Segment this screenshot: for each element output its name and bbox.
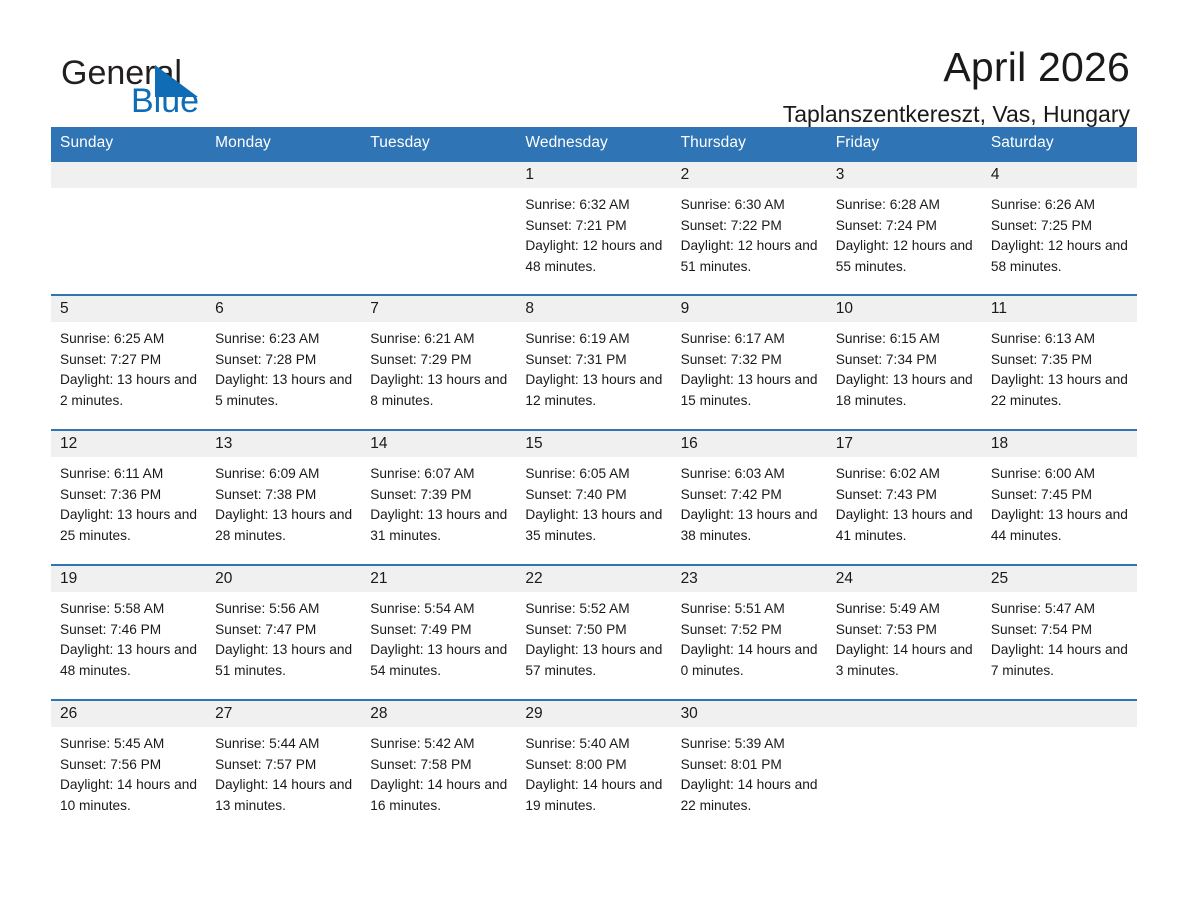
day-details: Sunrise: 5:56 AMSunset: 7:47 PMDaylight:… bbox=[206, 592, 361, 681]
daylight-text: Daylight: 13 hours and 31 minutes. bbox=[370, 505, 510, 546]
calendar-cell-empty bbox=[827, 700, 982, 835]
sunrise-text: Sunrise: 6:13 AM bbox=[991, 329, 1131, 350]
daylight-text: Daylight: 13 hours and 18 minutes. bbox=[836, 370, 976, 411]
daylight-text: Daylight: 13 hours and 48 minutes. bbox=[60, 640, 200, 681]
day-details: Sunrise: 6:13 AMSunset: 7:35 PMDaylight:… bbox=[982, 322, 1137, 411]
daylight-text: Daylight: 13 hours and 57 minutes. bbox=[525, 640, 665, 681]
day-number: 18 bbox=[982, 431, 1137, 457]
day-details: Sunrise: 6:11 AMSunset: 7:36 PMDaylight:… bbox=[51, 457, 206, 546]
day-details: Sunrise: 5:51 AMSunset: 7:52 PMDaylight:… bbox=[672, 592, 827, 681]
weekday-header-wednesday: Wednesday bbox=[516, 127, 671, 161]
day-number: 20 bbox=[206, 566, 361, 592]
page-header: General Blue April 2026 Taplanszentkeres… bbox=[0, 0, 1188, 118]
calendar-day-cell[interactable]: 16Sunrise: 6:03 AMSunset: 7:42 PMDayligh… bbox=[672, 430, 827, 565]
day-details: Sunrise: 6:28 AMSunset: 7:24 PMDaylight:… bbox=[827, 188, 982, 277]
sunset-text: Sunset: 7:45 PM bbox=[991, 485, 1131, 506]
sunrise-text: Sunrise: 5:54 AM bbox=[370, 599, 510, 620]
weekday-header-friday: Friday bbox=[827, 127, 982, 161]
day-number: 27 bbox=[206, 701, 361, 727]
daylight-text: Daylight: 13 hours and 28 minutes. bbox=[215, 505, 355, 546]
calendar-day-cell[interactable]: 23Sunrise: 5:51 AMSunset: 7:52 PMDayligh… bbox=[672, 565, 827, 700]
calendar-day-cell[interactable]: 4Sunrise: 6:26 AMSunset: 7:25 PMDaylight… bbox=[982, 161, 1137, 295]
daylight-text: Daylight: 14 hours and 0 minutes. bbox=[681, 640, 821, 681]
day-number: 28 bbox=[361, 701, 516, 727]
daylight-text: Daylight: 13 hours and 41 minutes. bbox=[836, 505, 976, 546]
day-number: 5 bbox=[51, 296, 206, 322]
day-details: Sunrise: 5:40 AMSunset: 8:00 PMDaylight:… bbox=[516, 727, 671, 816]
day-number: 15 bbox=[516, 431, 671, 457]
day-number bbox=[827, 701, 982, 727]
sunrise-text: Sunrise: 5:40 AM bbox=[525, 734, 665, 755]
calendar-day-cell[interactable]: 20Sunrise: 5:56 AMSunset: 7:47 PMDayligh… bbox=[206, 565, 361, 700]
sunrise-text: Sunrise: 6:03 AM bbox=[681, 464, 821, 485]
calendar-day-cell[interactable]: 15Sunrise: 6:05 AMSunset: 7:40 PMDayligh… bbox=[516, 430, 671, 565]
sunrise-text: Sunrise: 6:09 AM bbox=[215, 464, 355, 485]
generalblue-logo: General Blue bbox=[57, 44, 257, 116]
daylight-text: Daylight: 14 hours and 19 minutes. bbox=[525, 775, 665, 816]
day-details: Sunrise: 5:58 AMSunset: 7:46 PMDaylight:… bbox=[51, 592, 206, 681]
calendar-day-cell[interactable]: 28Sunrise: 5:42 AMSunset: 7:58 PMDayligh… bbox=[361, 700, 516, 835]
sunrise-text: Sunrise: 6:25 AM bbox=[60, 329, 200, 350]
day-details: Sunrise: 5:54 AMSunset: 7:49 PMDaylight:… bbox=[361, 592, 516, 681]
day-number: 22 bbox=[516, 566, 671, 592]
day-number: 29 bbox=[516, 701, 671, 727]
sunrise-text: Sunrise: 6:19 AM bbox=[525, 329, 665, 350]
calendar-day-cell[interactable]: 1Sunrise: 6:32 AMSunset: 7:21 PMDaylight… bbox=[516, 161, 671, 295]
sunset-text: Sunset: 7:35 PM bbox=[991, 350, 1131, 371]
day-number: 12 bbox=[51, 431, 206, 457]
sunrise-text: Sunrise: 6:21 AM bbox=[370, 329, 510, 350]
daylight-text: Daylight: 14 hours and 3 minutes. bbox=[836, 640, 976, 681]
page-subtitle: Taplanszentkereszt, Vas, Hungary bbox=[783, 102, 1130, 127]
sunrise-text: Sunrise: 6:23 AM bbox=[215, 329, 355, 350]
calendar-day-cell[interactable]: 7Sunrise: 6:21 AMSunset: 7:29 PMDaylight… bbox=[361, 295, 516, 430]
daylight-text: Daylight: 12 hours and 51 minutes. bbox=[681, 236, 821, 277]
sunset-text: Sunset: 7:57 PM bbox=[215, 755, 355, 776]
sunrise-text: Sunrise: 5:58 AM bbox=[60, 599, 200, 620]
sunrise-text: Sunrise: 6:00 AM bbox=[991, 464, 1131, 485]
daylight-text: Daylight: 13 hours and 51 minutes. bbox=[215, 640, 355, 681]
day-number: 19 bbox=[51, 566, 206, 592]
day-number: 11 bbox=[982, 296, 1137, 322]
sunrise-text: Sunrise: 5:44 AM bbox=[215, 734, 355, 755]
calendar-day-cell[interactable]: 2Sunrise: 6:30 AMSunset: 7:22 PMDaylight… bbox=[672, 161, 827, 295]
day-details: Sunrise: 6:26 AMSunset: 7:25 PMDaylight:… bbox=[982, 188, 1137, 277]
sunset-text: Sunset: 7:47 PM bbox=[215, 620, 355, 641]
day-number: 10 bbox=[827, 296, 982, 322]
sunrise-text: Sunrise: 6:26 AM bbox=[991, 195, 1131, 216]
day-details: Sunrise: 6:17 AMSunset: 7:32 PMDaylight:… bbox=[672, 322, 827, 411]
calendar-week-row: 1Sunrise: 6:32 AMSunset: 7:21 PMDaylight… bbox=[51, 161, 1137, 295]
day-number: 21 bbox=[361, 566, 516, 592]
sunrise-text: Sunrise: 5:51 AM bbox=[681, 599, 821, 620]
daylight-text: Daylight: 14 hours and 13 minutes. bbox=[215, 775, 355, 816]
sunrise-text: Sunrise: 5:56 AM bbox=[215, 599, 355, 620]
sunset-text: Sunset: 7:40 PM bbox=[525, 485, 665, 506]
sunrise-text: Sunrise: 6:30 AM bbox=[681, 195, 821, 216]
calendar-day-cell[interactable]: 24Sunrise: 5:49 AMSunset: 7:53 PMDayligh… bbox=[827, 565, 982, 700]
day-number bbox=[206, 162, 361, 188]
calendar-week-row: 19Sunrise: 5:58 AMSunset: 7:46 PMDayligh… bbox=[51, 565, 1137, 700]
daylight-text: Daylight: 13 hours and 44 minutes. bbox=[991, 505, 1131, 546]
day-number: 4 bbox=[982, 162, 1137, 188]
daylight-text: Daylight: 13 hours and 2 minutes. bbox=[60, 370, 200, 411]
day-details: Sunrise: 6:32 AMSunset: 7:21 PMDaylight:… bbox=[516, 188, 671, 277]
day-details: Sunrise: 6:09 AMSunset: 7:38 PMDaylight:… bbox=[206, 457, 361, 546]
sunset-text: Sunset: 7:52 PM bbox=[681, 620, 821, 641]
calendar-day-cell[interactable]: 14Sunrise: 6:07 AMSunset: 7:39 PMDayligh… bbox=[361, 430, 516, 565]
day-number: 7 bbox=[361, 296, 516, 322]
day-number: 25 bbox=[982, 566, 1137, 592]
day-details: Sunrise: 6:05 AMSunset: 7:40 PMDaylight:… bbox=[516, 457, 671, 546]
weekday-header-sunday: Sunday bbox=[51, 127, 206, 161]
daylight-text: Daylight: 13 hours and 15 minutes. bbox=[681, 370, 821, 411]
sunset-text: Sunset: 7:54 PM bbox=[991, 620, 1131, 641]
sunset-text: Sunset: 7:21 PM bbox=[525, 216, 665, 237]
calendar-day-cell[interactable]: 11Sunrise: 6:13 AMSunset: 7:35 PMDayligh… bbox=[982, 295, 1137, 430]
day-number: 1 bbox=[516, 162, 671, 188]
day-details: Sunrise: 5:47 AMSunset: 7:54 PMDaylight:… bbox=[982, 592, 1137, 681]
day-details: Sunrise: 6:03 AMSunset: 7:42 PMDaylight:… bbox=[672, 457, 827, 546]
sunrise-text: Sunrise: 6:17 AM bbox=[681, 329, 821, 350]
sunrise-text: Sunrise: 6:05 AM bbox=[525, 464, 665, 485]
sunset-text: Sunset: 7:46 PM bbox=[60, 620, 200, 641]
daylight-text: Daylight: 14 hours and 22 minutes. bbox=[681, 775, 821, 816]
day-number bbox=[982, 701, 1137, 727]
sunrise-text: Sunrise: 6:28 AM bbox=[836, 195, 976, 216]
daylight-text: Daylight: 13 hours and 8 minutes. bbox=[370, 370, 510, 411]
calendar-week-row: 26Sunrise: 5:45 AMSunset: 7:56 PMDayligh… bbox=[51, 700, 1137, 835]
day-details: Sunrise: 6:25 AMSunset: 7:27 PMDaylight:… bbox=[51, 322, 206, 411]
weekday-header-monday: Monday bbox=[206, 127, 361, 161]
sunset-text: Sunset: 7:34 PM bbox=[836, 350, 976, 371]
sunset-text: Sunset: 8:01 PM bbox=[681, 755, 821, 776]
sunrise-text: Sunrise: 5:49 AM bbox=[836, 599, 976, 620]
calendar-day-cell[interactable]: 18Sunrise: 6:00 AMSunset: 7:45 PMDayligh… bbox=[982, 430, 1137, 565]
daylight-text: Daylight: 13 hours and 12 minutes. bbox=[525, 370, 665, 411]
calendar-day-cell[interactable]: 25Sunrise: 5:47 AMSunset: 7:54 PMDayligh… bbox=[982, 565, 1137, 700]
sunrise-text: Sunrise: 6:15 AM bbox=[836, 329, 976, 350]
calendar-day-cell[interactable]: 9Sunrise: 6:17 AMSunset: 7:32 PMDaylight… bbox=[672, 295, 827, 430]
calendar-day-cell[interactable]: 27Sunrise: 5:44 AMSunset: 7:57 PMDayligh… bbox=[206, 700, 361, 835]
day-details: Sunrise: 6:19 AMSunset: 7:31 PMDaylight:… bbox=[516, 322, 671, 411]
sunrise-text: Sunrise: 6:11 AM bbox=[60, 464, 200, 485]
calendar-day-cell[interactable]: 3Sunrise: 6:28 AMSunset: 7:24 PMDaylight… bbox=[827, 161, 982, 295]
day-number: 6 bbox=[206, 296, 361, 322]
calendar-day-cell[interactable]: 6Sunrise: 6:23 AMSunset: 7:28 PMDaylight… bbox=[206, 295, 361, 430]
day-details: Sunrise: 5:42 AMSunset: 7:58 PMDaylight:… bbox=[361, 727, 516, 816]
calendar-cell-empty bbox=[982, 700, 1137, 835]
day-number: 14 bbox=[361, 431, 516, 457]
sunset-text: Sunset: 7:31 PM bbox=[525, 350, 665, 371]
sunset-text: Sunset: 8:00 PM bbox=[525, 755, 665, 776]
calendar-day-cell[interactable]: 10Sunrise: 6:15 AMSunset: 7:34 PMDayligh… bbox=[827, 295, 982, 430]
day-details: Sunrise: 6:00 AMSunset: 7:45 PMDaylight:… bbox=[982, 457, 1137, 546]
calendar-day-cell[interactable]: 29Sunrise: 5:40 AMSunset: 8:00 PMDayligh… bbox=[516, 700, 671, 835]
day-number: 9 bbox=[672, 296, 827, 322]
day-details: Sunrise: 5:44 AMSunset: 7:57 PMDaylight:… bbox=[206, 727, 361, 816]
day-number: 8 bbox=[516, 296, 671, 322]
sunset-text: Sunset: 7:32 PM bbox=[681, 350, 821, 371]
calendar-day-cell[interactable]: 17Sunrise: 6:02 AMSunset: 7:43 PMDayligh… bbox=[827, 430, 982, 565]
day-number: 24 bbox=[827, 566, 982, 592]
sunset-text: Sunset: 7:24 PM bbox=[836, 216, 976, 237]
day-details: Sunrise: 5:39 AMSunset: 8:01 PMDaylight:… bbox=[672, 727, 827, 816]
daylight-text: Daylight: 14 hours and 10 minutes. bbox=[60, 775, 200, 816]
page-title: April 2026 bbox=[783, 46, 1130, 89]
daylight-text: Daylight: 12 hours and 55 minutes. bbox=[836, 236, 976, 277]
day-details: Sunrise: 5:45 AMSunset: 7:56 PMDaylight:… bbox=[51, 727, 206, 816]
sunset-text: Sunset: 7:28 PM bbox=[215, 350, 355, 371]
sunset-text: Sunset: 7:39 PM bbox=[370, 485, 510, 506]
calendar-day-cell[interactable]: 30Sunrise: 5:39 AMSunset: 8:01 PMDayligh… bbox=[672, 700, 827, 835]
day-number: 13 bbox=[206, 431, 361, 457]
sunrise-text: Sunrise: 6:02 AM bbox=[836, 464, 976, 485]
day-details: Sunrise: 5:52 AMSunset: 7:50 PMDaylight:… bbox=[516, 592, 671, 681]
calendar-day-cell[interactable]: 19Sunrise: 5:58 AMSunset: 7:46 PMDayligh… bbox=[51, 565, 206, 700]
day-details: Sunrise: 6:21 AMSunset: 7:29 PMDaylight:… bbox=[361, 322, 516, 411]
day-number bbox=[51, 162, 206, 188]
daylight-text: Daylight: 14 hours and 16 minutes. bbox=[370, 775, 510, 816]
daylight-text: Daylight: 14 hours and 7 minutes. bbox=[991, 640, 1131, 681]
sunset-text: Sunset: 7:38 PM bbox=[215, 485, 355, 506]
day-number: 26 bbox=[51, 701, 206, 727]
calendar-day-cell[interactable]: 12Sunrise: 6:11 AMSunset: 7:36 PMDayligh… bbox=[51, 430, 206, 565]
calendar-cell-empty bbox=[51, 161, 206, 295]
calendar-day-cell[interactable]: 8Sunrise: 6:19 AMSunset: 7:31 PMDaylight… bbox=[516, 295, 671, 430]
sunrise-text: Sunrise: 6:32 AM bbox=[525, 195, 665, 216]
daylight-text: Daylight: 13 hours and 22 minutes. bbox=[991, 370, 1131, 411]
day-details: Sunrise: 6:02 AMSunset: 7:43 PMDaylight:… bbox=[827, 457, 982, 546]
sunrise-text: Sunrise: 5:45 AM bbox=[60, 734, 200, 755]
sunset-text: Sunset: 7:29 PM bbox=[370, 350, 510, 371]
sunrise-text: Sunrise: 5:39 AM bbox=[681, 734, 821, 755]
sunrise-text: Sunrise: 5:47 AM bbox=[991, 599, 1131, 620]
day-details: Sunrise: 6:30 AMSunset: 7:22 PMDaylight:… bbox=[672, 188, 827, 277]
calendar-body: 1Sunrise: 6:32 AMSunset: 7:21 PMDaylight… bbox=[51, 161, 1137, 835]
sunset-text: Sunset: 7:27 PM bbox=[60, 350, 200, 371]
day-number: 3 bbox=[827, 162, 982, 188]
calendar-cell-empty bbox=[206, 161, 361, 295]
sunset-text: Sunset: 7:58 PM bbox=[370, 755, 510, 776]
day-details: Sunrise: 6:15 AMSunset: 7:34 PMDaylight:… bbox=[827, 322, 982, 411]
sunset-text: Sunset: 7:22 PM bbox=[681, 216, 821, 237]
sunset-text: Sunset: 7:25 PM bbox=[991, 216, 1131, 237]
calendar-table: Sunday Monday Tuesday Wednesday Thursday… bbox=[51, 127, 1137, 835]
sunset-text: Sunset: 7:36 PM bbox=[60, 485, 200, 506]
daylight-text: Daylight: 13 hours and 35 minutes. bbox=[525, 505, 665, 546]
sunset-text: Sunset: 7:43 PM bbox=[836, 485, 976, 506]
calendar-day-cell[interactable]: 5Sunrise: 6:25 AMSunset: 7:27 PMDaylight… bbox=[51, 295, 206, 430]
sunset-text: Sunset: 7:53 PM bbox=[836, 620, 976, 641]
daylight-text: Daylight: 13 hours and 25 minutes. bbox=[60, 505, 200, 546]
title-block: April 2026 Taplanszentkereszt, Vas, Hung… bbox=[783, 44, 1130, 127]
calendar-week-row: 5Sunrise: 6:25 AMSunset: 7:27 PMDaylight… bbox=[51, 295, 1137, 430]
day-number: 16 bbox=[672, 431, 827, 457]
calendar-week-row: 12Sunrise: 6:11 AMSunset: 7:36 PMDayligh… bbox=[51, 430, 1137, 565]
day-details: Sunrise: 6:07 AMSunset: 7:39 PMDaylight:… bbox=[361, 457, 516, 546]
calendar-header-row: Sunday Monday Tuesday Wednesday Thursday… bbox=[51, 127, 1137, 161]
weekday-header-thursday: Thursday bbox=[672, 127, 827, 161]
daylight-text: Daylight: 13 hours and 5 minutes. bbox=[215, 370, 355, 411]
daylight-text: Daylight: 13 hours and 54 minutes. bbox=[370, 640, 510, 681]
day-details: Sunrise: 5:49 AMSunset: 7:53 PMDaylight:… bbox=[827, 592, 982, 681]
day-number: 2 bbox=[672, 162, 827, 188]
day-number: 17 bbox=[827, 431, 982, 457]
daylight-text: Daylight: 13 hours and 38 minutes. bbox=[681, 505, 821, 546]
day-number: 30 bbox=[672, 701, 827, 727]
sunset-text: Sunset: 7:56 PM bbox=[60, 755, 200, 776]
calendar-day-cell[interactable]: 22Sunrise: 5:52 AMSunset: 7:50 PMDayligh… bbox=[516, 565, 671, 700]
logo-text-blue: Blue bbox=[131, 84, 199, 118]
sunset-text: Sunset: 7:42 PM bbox=[681, 485, 821, 506]
sunrise-text: Sunrise: 5:42 AM bbox=[370, 734, 510, 755]
day-details: Sunrise: 6:23 AMSunset: 7:28 PMDaylight:… bbox=[206, 322, 361, 411]
calendar-day-cell[interactable]: 13Sunrise: 6:09 AMSunset: 7:38 PMDayligh… bbox=[206, 430, 361, 565]
sunrise-text: Sunrise: 5:52 AM bbox=[525, 599, 665, 620]
calendar-page: General Blue April 2026 Taplanszentkeres… bbox=[0, 0, 1188, 918]
calendar-cell-empty bbox=[361, 161, 516, 295]
daylight-text: Daylight: 12 hours and 58 minutes. bbox=[991, 236, 1131, 277]
sunset-text: Sunset: 7:49 PM bbox=[370, 620, 510, 641]
daylight-text: Daylight: 12 hours and 48 minutes. bbox=[525, 236, 665, 277]
day-number bbox=[361, 162, 516, 188]
weekday-header-tuesday: Tuesday bbox=[361, 127, 516, 161]
sunrise-text: Sunrise: 6:07 AM bbox=[370, 464, 510, 485]
sunset-text: Sunset: 7:50 PM bbox=[525, 620, 665, 641]
weekday-header-saturday: Saturday bbox=[982, 127, 1137, 161]
day-number: 23 bbox=[672, 566, 827, 592]
calendar-day-cell[interactable]: 26Sunrise: 5:45 AMSunset: 7:56 PMDayligh… bbox=[51, 700, 206, 835]
calendar-day-cell[interactable]: 21Sunrise: 5:54 AMSunset: 7:49 PMDayligh… bbox=[361, 565, 516, 700]
